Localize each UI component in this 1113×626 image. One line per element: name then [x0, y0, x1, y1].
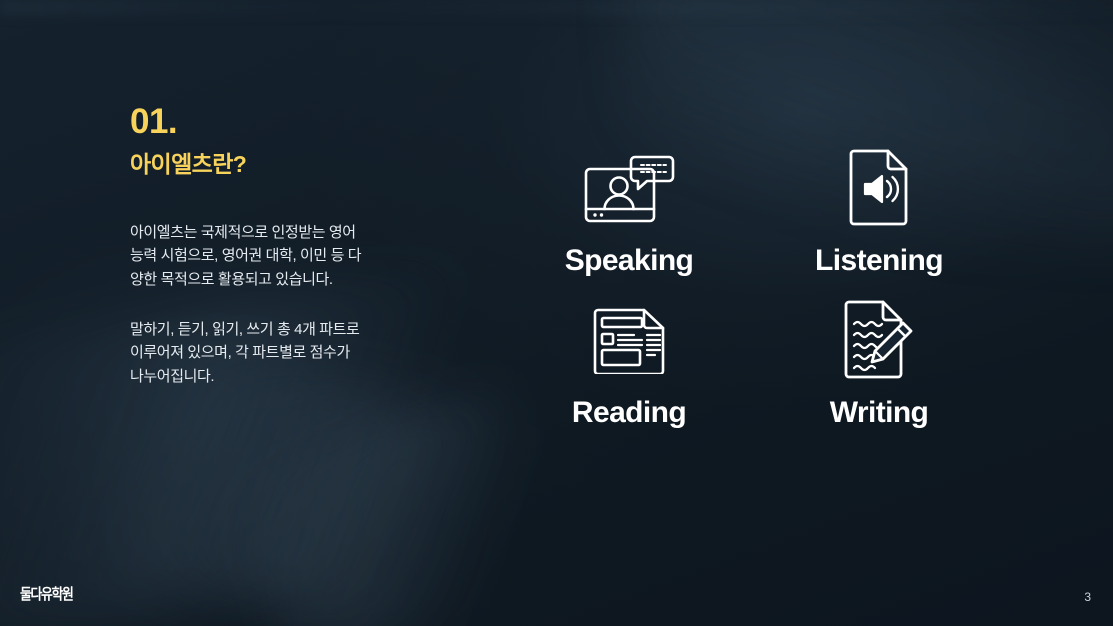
section-number: 01. — [130, 104, 380, 139]
document-newspaper-icon — [592, 302, 666, 380]
skill-label-listening: Listening — [815, 244, 943, 278]
document-pencil-icon — [841, 302, 917, 380]
skill-item-reading: Reading — [500, 302, 758, 454]
skills-grid: Speaking Listening — [500, 150, 1000, 490]
skill-label-reading: Reading — [572, 396, 686, 430]
text-column: 01. 아이엘츠란? 아이엘츠는 국제적으로 인정받는 영어능력 시험으로, 영… — [130, 104, 380, 389]
presentation-slide: 01. 아이엘츠란? 아이엘츠는 국제적으로 인정받는 영어능력 시험으로, 영… — [0, 0, 1113, 626]
skill-label-writing: Writing — [830, 396, 929, 430]
document-speaker-icon — [846, 150, 912, 228]
skill-item-writing: Writing — [758, 302, 1000, 454]
background-top-band — [0, 0, 1113, 14]
page-title: 아이엘츠란? — [130, 151, 380, 179]
body-paragraph-1: 아이엘츠는 국제적으로 인정받는 영어능력 시험으로, 영어권 대학, 이민 등… — [130, 221, 362, 292]
skill-item-listening: Listening — [758, 150, 1000, 302]
skill-label-speaking: Speaking — [565, 244, 694, 278]
monitor-person-speech-bubble-icon — [583, 150, 675, 228]
body-paragraph-2: 말하기, 듣기, 읽기, 쓰기 총 4개 파트로 이루어져 있으며, 각 파트별… — [130, 318, 362, 389]
skill-item-speaking: Speaking — [500, 150, 758, 302]
page-number: 3 — [1084, 590, 1091, 604]
company-logo: 둘다유학원 — [20, 583, 72, 604]
